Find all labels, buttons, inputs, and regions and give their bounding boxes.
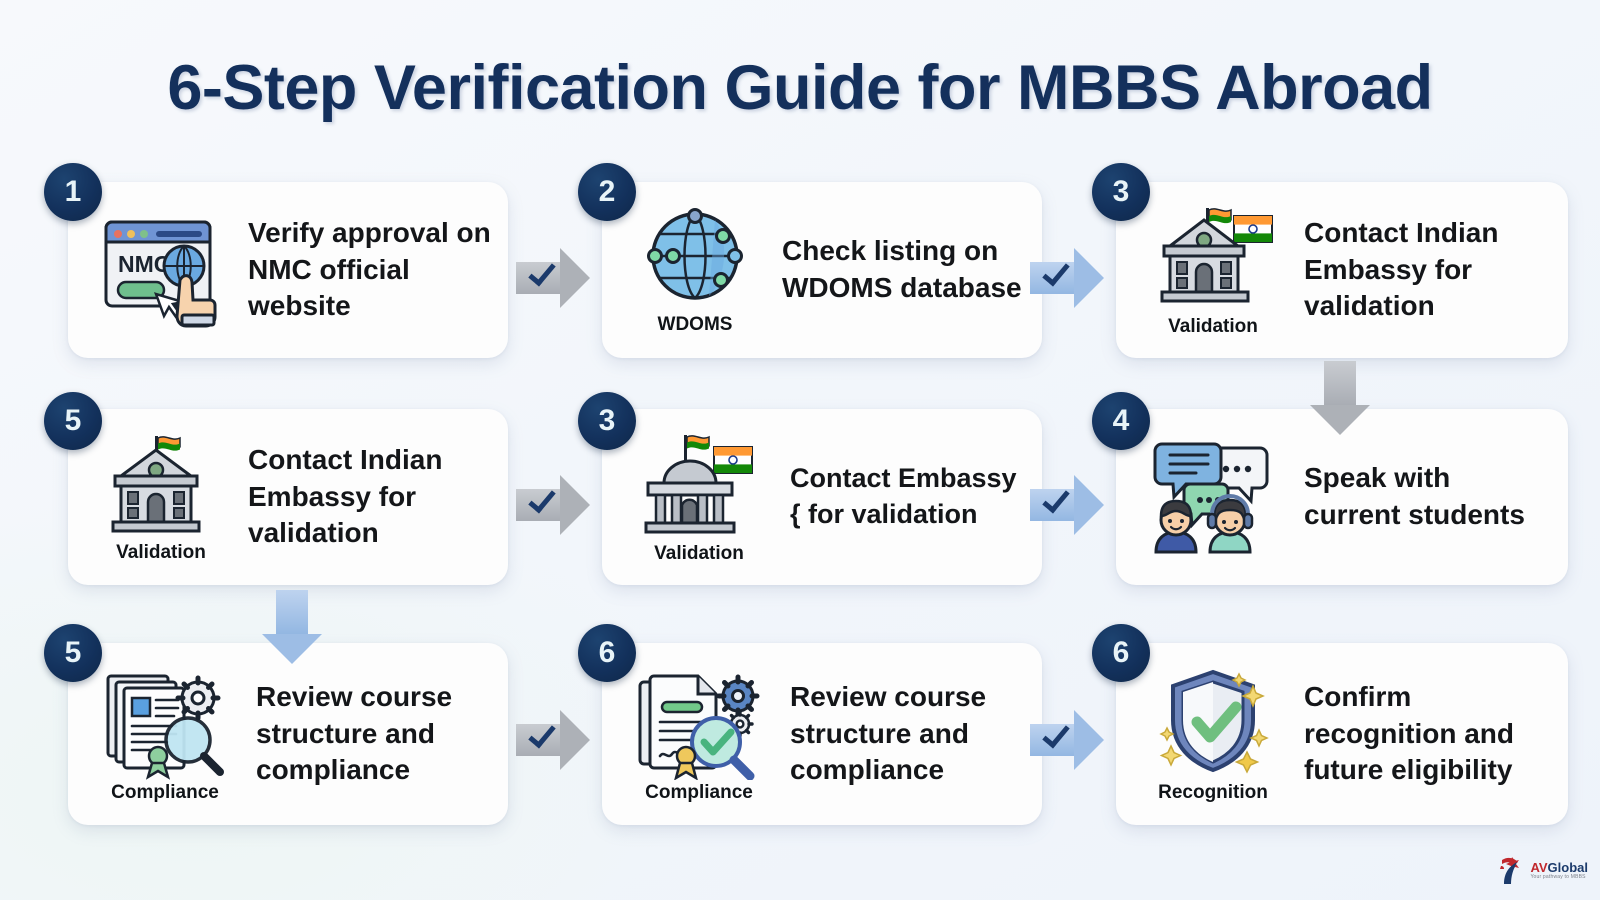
arrow-row3-col1-col2 [516,710,590,770]
step-badge-3: 3 [1092,163,1150,221]
step-badge-4: 4 [1092,392,1150,450]
arrow-row2-col1-col2 [516,475,590,535]
icon-caption: Compliance [645,782,753,804]
svg-text:NMC: NMC [118,251,170,277]
logo-name: AVGlobal [1530,861,1588,874]
step-card-text: Check listing on WDOMS database [770,233,1028,307]
arrow-col1-row2-row3 [262,590,322,664]
step-badge-5-bottom: 5 [44,624,102,682]
document-gears-magnifier-check-icon: Compliance [620,664,778,804]
step-card-text: Contact Embassy { for validation [778,461,1028,532]
icon-caption: Validation [654,543,744,565]
icon-caption: Compliance [111,782,219,804]
logo-tagline: Your pathway to MBBS [1530,875,1588,880]
documents-gear-magnifier-icon: Compliance [86,664,244,804]
step-card-1[interactable]: NMC Verify approval on NMC official webs… [68,182,508,358]
arrow-row3-col2-col3 [1030,710,1104,770]
arrow-row1-col2-col3 [1030,248,1104,308]
icon-caption: Validation [1168,316,1258,338]
shield-check-sparkles-icon: Recognition [1134,664,1292,804]
embassy-dome-flags-icon: Validation [620,429,778,565]
browser-nmc-globe-cursor-icon: NMC [86,210,236,330]
step-card-text: Verify approval on NMC official website [236,215,494,326]
step-card-text: Contact Indian Embassy for validation [236,442,494,553]
arrow-col3-row1-row2 [1310,361,1370,435]
logo-name-second: Global [1548,860,1588,875]
step-card-text: Speak with current students [1292,460,1554,534]
step-card-text: Review course structure and compliance [778,679,1028,790]
step-card-7[interactable]: Compliance Review course structure and c… [68,643,508,825]
step-card-text: Confirm recognition and future eligibili… [1292,679,1554,790]
logo-name-first: AV [1530,860,1547,875]
step-badge-2: 2 [578,163,636,221]
chat-bubbles-students-icon [1134,438,1292,556]
icon-caption: WDOMS [658,314,733,336]
embassy-building-flag-icon: Validation [86,430,236,564]
step-badge-1: 1 [44,163,102,221]
step-card-4[interactable]: Validation Contact Indian Embassy for va… [68,409,508,585]
step-card-text: Contact Indian Embassy for validation [1292,215,1554,326]
step-card-8[interactable]: Compliance Review course structure and c… [602,643,1042,825]
page-title: 6-Step Verification Guide for MBBS Abroa… [0,52,1600,124]
arrow-row2-col2-col3 [1030,475,1104,535]
brand-logo[interactable]: AVGlobal Your pathway to MBBS [1496,854,1588,886]
icon-caption: Validation [116,542,206,564]
step-card-2[interactable]: WDOMS Check listing on WDOMS database [602,182,1042,358]
logo-mark-icon [1496,854,1526,886]
globe-network-icon: WDOMS [620,204,770,336]
step-card-9[interactable]: Recognition Confirm recognition and futu… [1116,643,1568,825]
step-badge-5-left: 5 [44,392,102,450]
step-card-6[interactable]: Speak with current students [1116,409,1568,585]
infographic-root: 6-Step Verification Guide for MBBS Abroa… [0,0,1600,900]
step-card-5[interactable]: Validation Contact Embassy { for validat… [602,409,1042,585]
step-badge-3-mid: 3 [578,392,636,450]
arrow-row1-col1-col2 [516,248,590,308]
step-badge-6-right: 6 [1092,624,1150,682]
embassy-building-flags-icon: Validation [1134,202,1292,338]
step-card-text: Review course structure and compliance [244,679,494,790]
icon-caption: Recognition [1158,782,1268,804]
step-card-3[interactable]: Validation Contact Indian Embassy for va… [1116,182,1568,358]
step-badge-6-mid: 6 [578,624,636,682]
